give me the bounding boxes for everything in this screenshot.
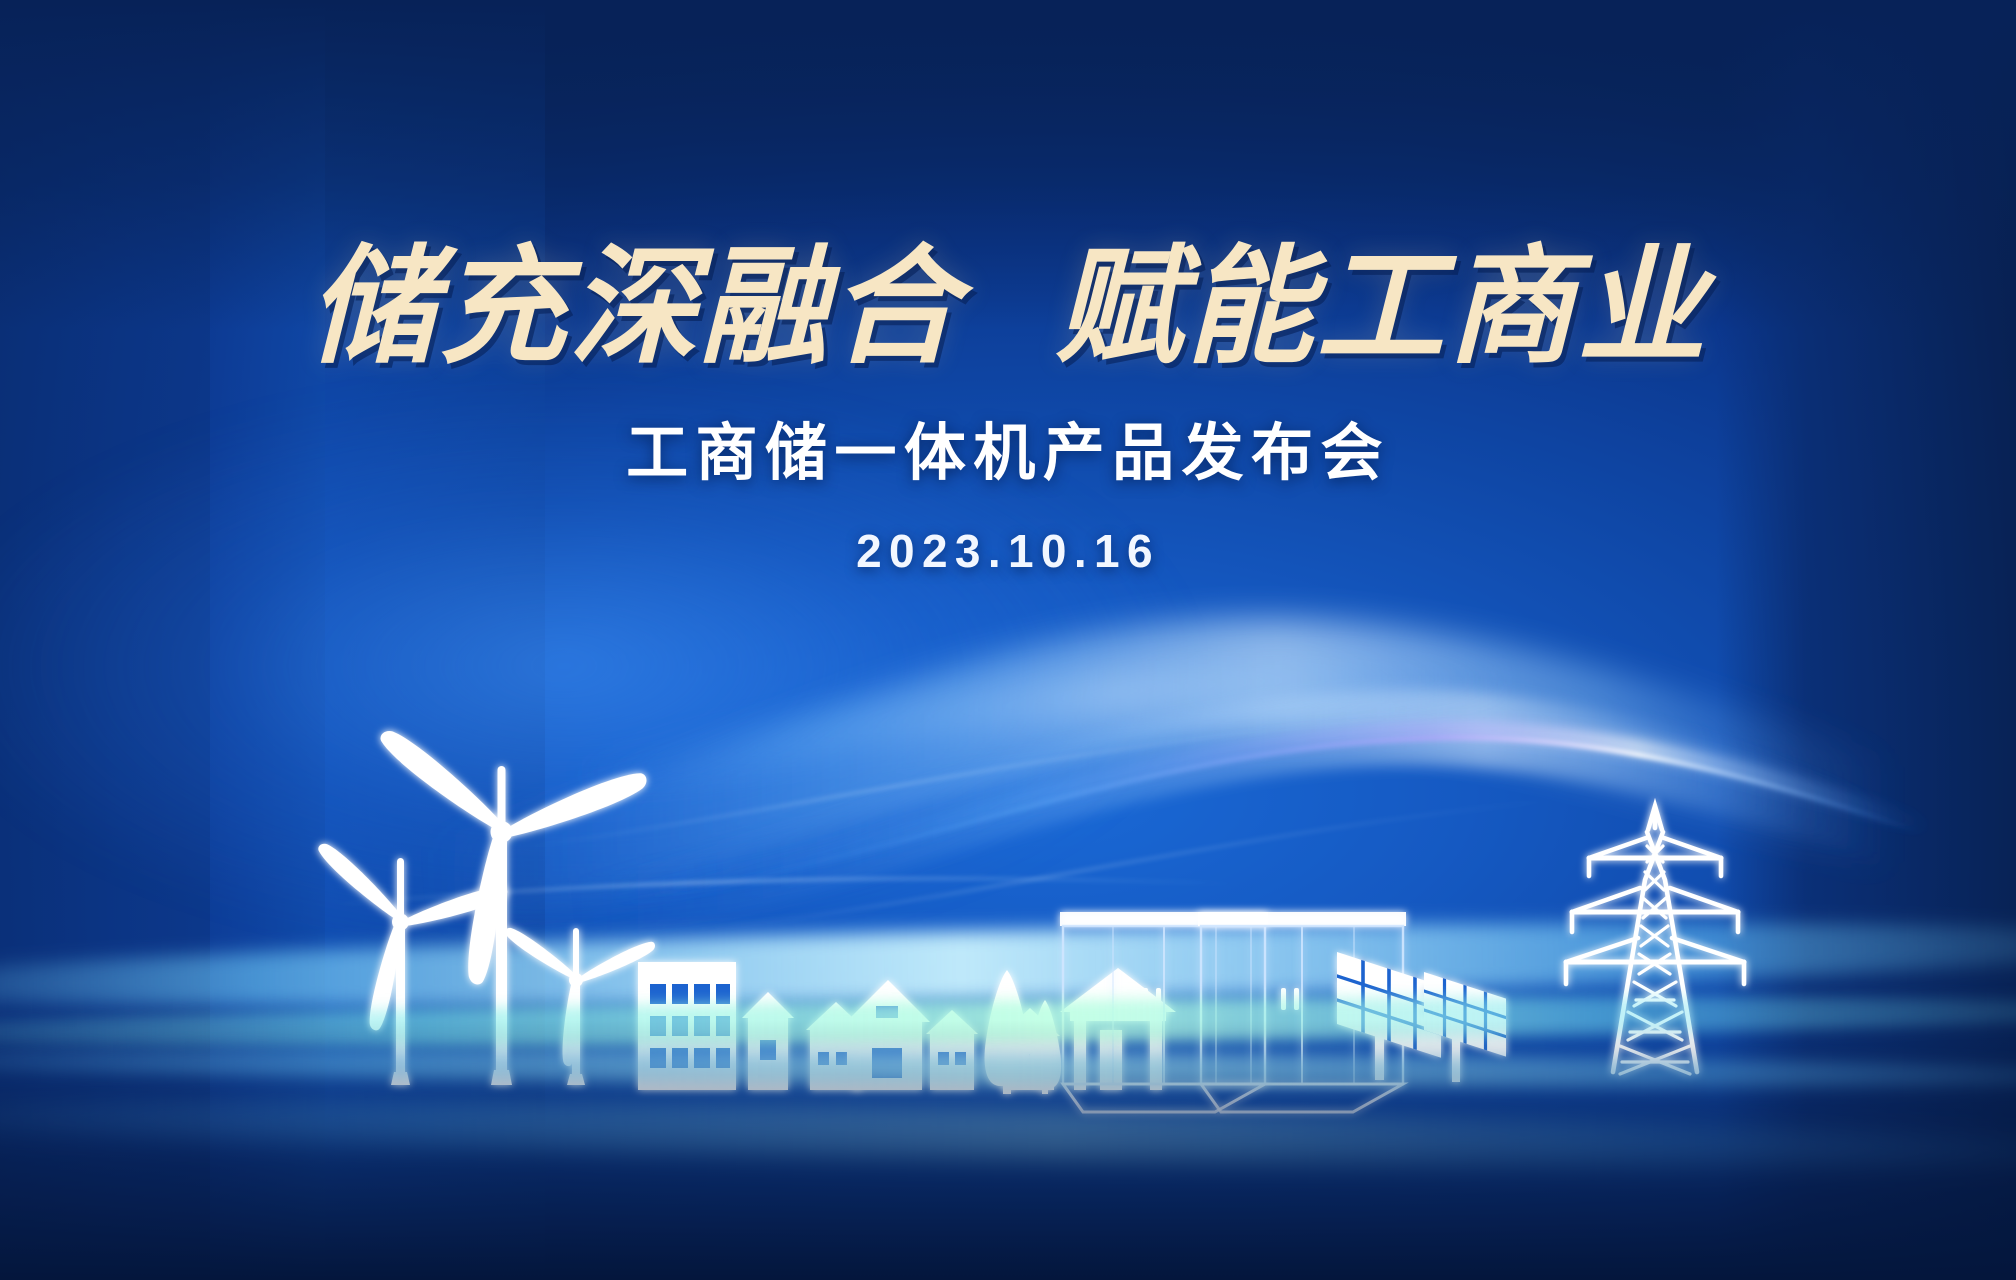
main-title: 储充深融合 赋能工商业 xyxy=(0,240,2016,376)
poster-text-block: 储充深融合 赋能工商业 工商储一体机产品发布会 2023.10.16 xyxy=(0,240,2016,578)
poster-canvas: 储充深融合 赋能工商业 工商储一体机产品发布会 2023.10.16 xyxy=(0,0,2016,1280)
background-bottom-vignette xyxy=(0,1020,2016,1280)
sub-title: 工商储一体机产品发布会 xyxy=(0,402,2016,492)
event-date: 2023.10.16 xyxy=(0,524,2016,578)
